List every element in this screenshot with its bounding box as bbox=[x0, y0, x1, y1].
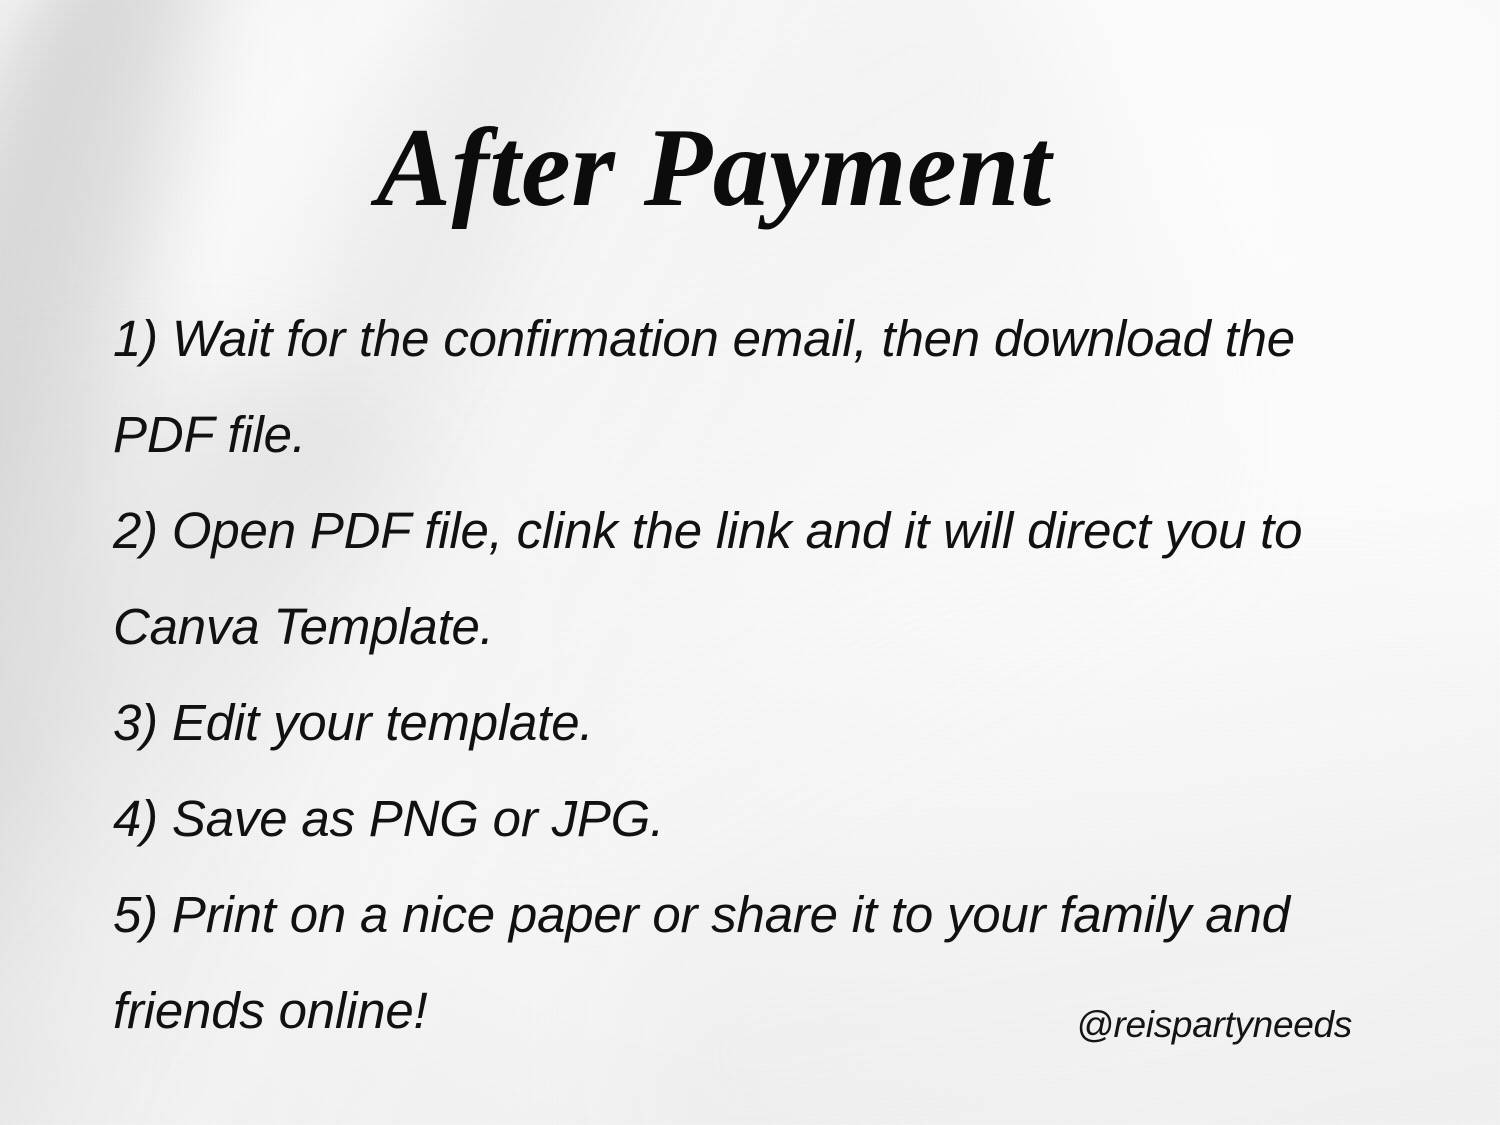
page-title: After Payment bbox=[0, 112, 1500, 224]
instruction-line: PDF file. bbox=[113, 387, 1435, 483]
instruction-line: Canva Template. bbox=[113, 579, 1435, 675]
instruction-line: 1) Wait for the confirmation email, then… bbox=[113, 291, 1435, 387]
instruction-line: 3) Edit your template. bbox=[113, 675, 1435, 771]
instruction-list: 1) Wait for the confirmation email, then… bbox=[113, 291, 1435, 1059]
card-content: After Payment 1) Wait for the confirmati… bbox=[0, 0, 1500, 1125]
instruction-line: 2) Open PDF file, clink the link and it … bbox=[113, 483, 1435, 579]
instruction-card: After Payment 1) Wait for the confirmati… bbox=[0, 0, 1500, 1125]
watermark-handle: @reispartyneeds bbox=[1076, 1006, 1352, 1043]
instruction-line: 5) Print on a nice paper or share it to … bbox=[113, 867, 1435, 963]
instruction-line: 4) Save as PNG or JPG. bbox=[113, 771, 1435, 867]
